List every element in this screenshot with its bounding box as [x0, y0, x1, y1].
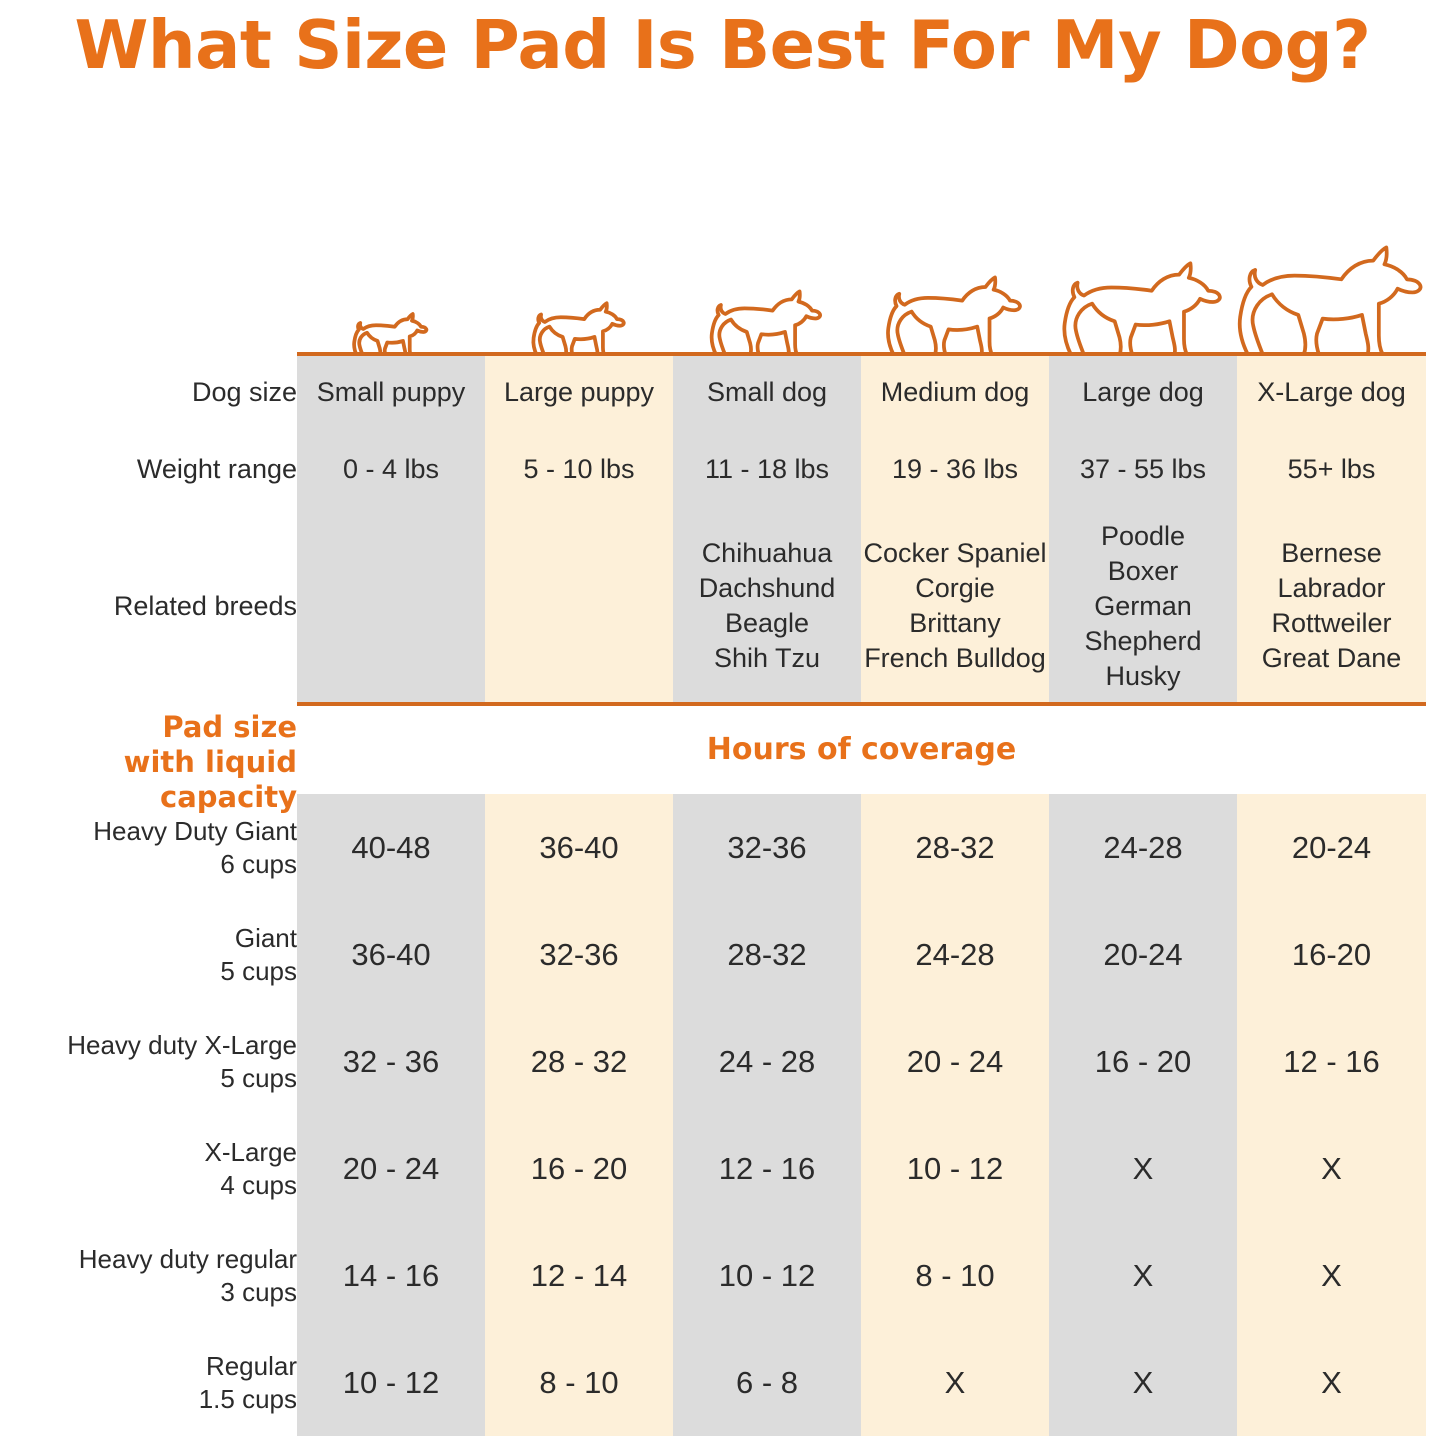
row-label-dog_size: Dog size	[0, 356, 297, 428]
pad-capacity: 5 cups	[0, 955, 297, 988]
section-band: Pad sizewith liquid capacity Hours of co…	[0, 702, 1445, 794]
pad-name: Regular	[0, 1350, 297, 1383]
cell-line: Cocker Spaniel	[861, 536, 1049, 571]
cell-related_breeds-3: Cocker SpanielCorgieBrittanyFrench Bulld…	[861, 510, 1049, 702]
coverage-cell-1-3: 24-28	[861, 901, 1049, 1008]
cell-line: Shepherd	[1049, 624, 1237, 659]
infographic-page: What Size Pad Is Best For My Dog? Dog si…	[0, 0, 1445, 1446]
cell-weight_range-2: 11 - 18 lbs	[673, 428, 861, 510]
cell-weight_range-5: 55+ lbs	[1237, 428, 1426, 510]
dog-silhouette-small-dog	[673, 278, 861, 358]
coverage-cell-0-3: 28-32	[861, 794, 1049, 901]
table-row: Related breedsChihuahuaDachshundBeagleSh…	[0, 510, 1426, 702]
coverage-row: Regular1.5 cups10 - 128 - 106 - 8XXX	[0, 1329, 1426, 1436]
pad-name: X-Large	[0, 1136, 297, 1169]
cell-line: French Bulldog	[861, 641, 1049, 676]
pad-capacity: 6 cups	[0, 848, 297, 881]
pad-size-heading: Pad sizewith liquid capacity	[0, 710, 297, 815]
coverage-row: Heavy duty X-Large5 cups32 - 3628 - 3224…	[0, 1008, 1426, 1115]
coverage-cell-2-3: 20 - 24	[861, 1008, 1049, 1115]
coverage-cell-5-3: X	[861, 1329, 1049, 1436]
coverage-cell-5-4: X	[1049, 1329, 1237, 1436]
coverage-cell-2-0: 32 - 36	[297, 1008, 485, 1115]
coverage-cell-1-0: 36-40	[297, 901, 485, 1008]
coverage-cell-3-3: 10 - 12	[861, 1115, 1049, 1222]
cell-line: Chihuahua	[673, 536, 861, 571]
size-table: Dog sizeSmall puppyLarge puppySmall dogM…	[0, 356, 1445, 1436]
coverage-cell-0-1: 36-40	[485, 794, 673, 901]
coverage-cell-3-5: X	[1237, 1115, 1426, 1222]
coverage-row: Giant5 cups36-4032-3628-3224-2820-2416-2…	[0, 901, 1426, 1008]
cell-related_breeds-1	[485, 510, 673, 702]
pad-row-label: Heavy duty regular3 cups	[0, 1222, 297, 1329]
table-row: Weight range0 - 4 lbs5 - 10 lbs11 - 18 l…	[0, 428, 1426, 510]
cell-weight_range-4: 37 - 55 lbs	[1049, 428, 1237, 510]
cell-line: Corgie	[861, 571, 1049, 606]
pad-capacity: 3 cups	[0, 1276, 297, 1309]
pad-row-label: Regular1.5 cups	[0, 1329, 297, 1436]
coverage-cell-3-0: 20 - 24	[297, 1115, 485, 1222]
coverage-cell-1-5: 16-20	[1237, 901, 1426, 1008]
cell-weight_range-1: 5 - 10 lbs	[485, 428, 673, 510]
row-label-related_breeds: Related breeds	[0, 510, 297, 702]
pad-capacity: 4 cups	[0, 1169, 297, 1202]
coverage-cell-1-2: 28-32	[673, 901, 861, 1008]
pad-size-heading-line: Pad size	[0, 710, 297, 745]
cell-weight_range-0: 0 - 4 lbs	[297, 428, 485, 510]
table-top-rule	[297, 352, 1426, 356]
coverage-cell-4-1: 12 - 14	[485, 1222, 673, 1329]
cell-line: Bernese	[1237, 536, 1426, 571]
coverage-cell-4-0: 14 - 16	[297, 1222, 485, 1329]
cell-line: Labrador	[1237, 571, 1426, 606]
pad-name: Heavy Duty Giant	[0, 815, 297, 848]
coverage-cell-2-1: 28 - 32	[485, 1008, 673, 1115]
row-label-weight_range: Weight range	[0, 428, 297, 510]
pad-capacity: 5 cups	[0, 1062, 297, 1095]
pad-name: Giant	[0, 922, 297, 955]
cell-line: Shih Tzu	[673, 641, 861, 676]
pad-name: Heavy duty regular	[0, 1243, 297, 1276]
coverage-cell-0-0: 40-48	[297, 794, 485, 901]
cell-line: Boxer	[1049, 554, 1237, 589]
cell-related_breeds-0	[297, 510, 485, 702]
coverage-cell-2-2: 24 - 28	[673, 1008, 861, 1115]
coverage-cell-5-1: 8 - 10	[485, 1329, 673, 1436]
dog-silhouette-medium-dog	[862, 261, 1050, 358]
coverage-cell-5-5: X	[1237, 1329, 1426, 1436]
coverage-cell-0-5: 20-24	[1237, 794, 1426, 901]
cell-line: German	[1049, 589, 1237, 624]
cell-dog_size-1: Large puppy	[485, 356, 673, 428]
coverage-cell-5-2: 6 - 8	[673, 1329, 861, 1436]
coverage-cell-3-4: X	[1049, 1115, 1237, 1222]
dog-silhouette-large-dog	[1050, 244, 1238, 358]
coverage-cell-4-3: 8 - 10	[861, 1222, 1049, 1329]
pad-size-heading-line: with liquid capacity	[0, 745, 297, 815]
dog-silhouette-strip	[297, 150, 1426, 358]
coverage-cell-4-2: 10 - 12	[673, 1222, 861, 1329]
coverage-cell-3-1: 16 - 20	[485, 1115, 673, 1222]
section-top-rule	[297, 702, 1426, 706]
cell-dog_size-4: Large dog	[1049, 356, 1237, 428]
hours-of-coverage-heading: Hours of coverage	[297, 732, 1426, 767]
cell-related_breeds-4: PoodleBoxerGermanShepherdHusky	[1049, 510, 1237, 702]
cell-line: Husky	[1049, 659, 1237, 694]
pad-row-label: X-Large4 cups	[0, 1115, 297, 1222]
cell-dog_size-0: Small puppy	[297, 356, 485, 428]
cell-related_breeds-5: BerneseLabradorRottweilerGreat Dane	[1237, 510, 1426, 702]
coverage-cell-1-4: 20-24	[1049, 901, 1237, 1008]
cell-line: Brittany	[861, 606, 1049, 641]
cell-weight_range-3: 19 - 36 lbs	[861, 428, 1049, 510]
cell-dog_size-2: Small dog	[673, 356, 861, 428]
coverage-cell-1-1: 32-36	[485, 901, 673, 1008]
coverage-cell-4-5: X	[1237, 1222, 1426, 1329]
pad-capacity: 1.5 cups	[0, 1383, 297, 1416]
coverage-row: X-Large4 cups20 - 2416 - 2012 - 1610 - 1…	[0, 1115, 1426, 1222]
cell-line: Beagle	[673, 606, 861, 641]
pad-row-label: Heavy duty X-Large5 cups	[0, 1008, 297, 1115]
cell-line: Great Dane	[1237, 641, 1426, 676]
pad-row-label: Giant5 cups	[0, 901, 297, 1008]
cell-dog_size-5: X-Large dog	[1237, 356, 1426, 428]
cell-related_breeds-2: ChihuahuaDachshundBeagleShih Tzu	[673, 510, 861, 702]
dog-size-table: Dog sizeSmall puppyLarge puppySmall dogM…	[0, 356, 1426, 702]
cell-line: Rottweiler	[1237, 606, 1426, 641]
coverage-table: Heavy Duty Giant6 cups40-4836-4032-3628-…	[0, 794, 1426, 1436]
pad-name: Heavy duty X-Large	[0, 1029, 297, 1062]
dog-silhouette-xlarge-dog	[1238, 225, 1426, 358]
coverage-cell-4-4: X	[1049, 1222, 1237, 1329]
coverage-row: Heavy duty regular3 cups14 - 1612 - 1410…	[0, 1222, 1426, 1329]
dog-silhouette-large-puppy	[485, 292, 673, 359]
page-title: What Size Pad Is Best For My Dog?	[0, 2, 1445, 88]
cell-line: Poodle	[1049, 519, 1237, 554]
coverage-cell-0-4: 24-28	[1049, 794, 1237, 901]
coverage-cell-2-4: 16 - 20	[1049, 1008, 1237, 1115]
coverage-cell-3-2: 12 - 16	[673, 1115, 861, 1222]
cell-line: Dachshund	[673, 571, 861, 606]
cell-dog_size-3: Medium dog	[861, 356, 1049, 428]
coverage-cell-0-2: 32-36	[673, 794, 861, 901]
coverage-cell-5-0: 10 - 12	[297, 1329, 485, 1436]
dog-silhouette-small-puppy	[297, 305, 485, 358]
coverage-cell-2-5: 12 - 16	[1237, 1008, 1426, 1115]
table-row: Dog sizeSmall puppyLarge puppySmall dogM…	[0, 356, 1426, 428]
